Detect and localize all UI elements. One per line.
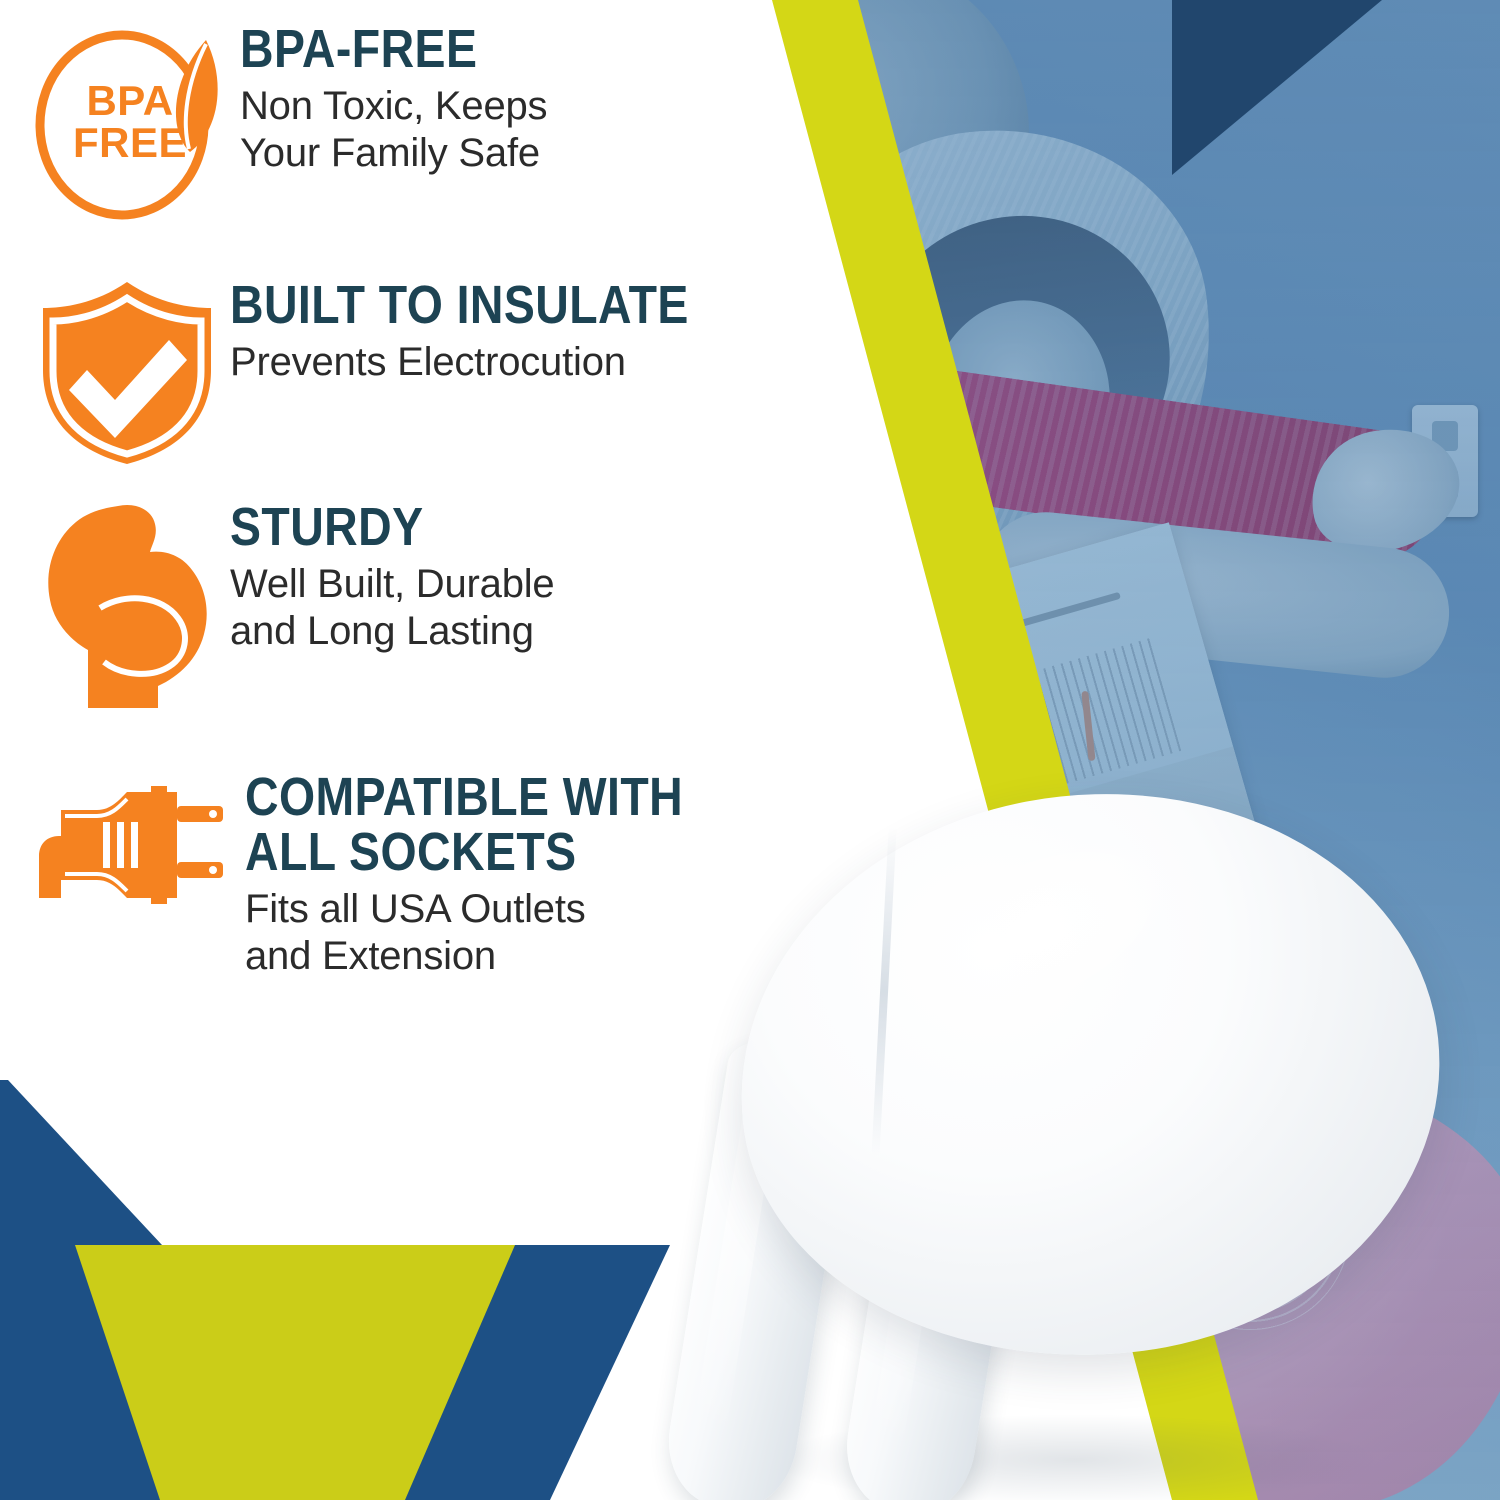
book-seed	[909, 798, 951, 850]
shield-check-icon	[35, 278, 220, 468]
book-reed	[939, 697, 958, 767]
prong-highlight	[869, 1107, 956, 1452]
feature-text-block: BPA-FREE Non Toxic, Keeps Your Family Sa…	[240, 22, 547, 177]
feature-item-bpa-free: BPA FREE BPA-FREE Non Toxic, Keeps Your …	[30, 22, 547, 222]
feature-item-compatible-sockets: COMPATIBLE WITH ALL SOCKETS Fits all USA…	[35, 770, 754, 981]
product-prong-left	[659, 1033, 859, 1500]
feature-subtitle: Well Built, Durable and Long Lasting	[230, 561, 554, 655]
bpa-free-badge-icon: BPA FREE	[30, 22, 230, 222]
bpa-badge-line1: BPA	[86, 80, 173, 122]
infographic-canvas: BPA FREE BPA-FREE Non Toxic, Keeps Your …	[0, 0, 1500, 1500]
prong-highlight	[692, 1064, 784, 1441]
flexed-bicep-icon	[40, 500, 220, 710]
power-plug-icon	[35, 770, 235, 920]
feature-text-block: BUILT TO INSULATE Prevents Electrocution	[230, 278, 763, 386]
feature-item-built-to-insulate: BUILT TO INSULATE Prevents Electrocution	[35, 278, 763, 468]
feature-subtitle: Prevents Electrocution	[230, 339, 763, 386]
bpa-badge-line2: FREE	[73, 122, 187, 164]
feature-title: COMPATIBLE WITH ALL SOCKETS	[245, 770, 683, 880]
book-reed	[889, 723, 928, 788]
feature-title: BUILT TO INSULATE	[230, 278, 689, 333]
product-prong-right	[837, 1078, 1031, 1500]
bpa-badge-label: BPA FREE	[30, 22, 230, 222]
feature-item-sturdy: STURDY Well Built, Durable and Long Last…	[40, 500, 554, 710]
feature-text-block: COMPATIBLE WITH ALL SOCKETS Fits all USA…	[245, 770, 754, 981]
feature-title: BPA-FREE	[240, 22, 504, 77]
feature-subtitle: Fits all USA Outlets and Extension	[245, 886, 754, 980]
feature-text-block: STURDY Well Built, Durable and Long Last…	[230, 500, 554, 655]
product-center-ridge	[871, 826, 896, 1156]
feature-subtitle: Non Toxic, Keeps Your Family Safe	[240, 83, 547, 177]
feature-title: STURDY	[230, 500, 509, 555]
feature-list: BPA FREE BPA-FREE Non Toxic, Keeps Your …	[0, 0, 830, 1080]
